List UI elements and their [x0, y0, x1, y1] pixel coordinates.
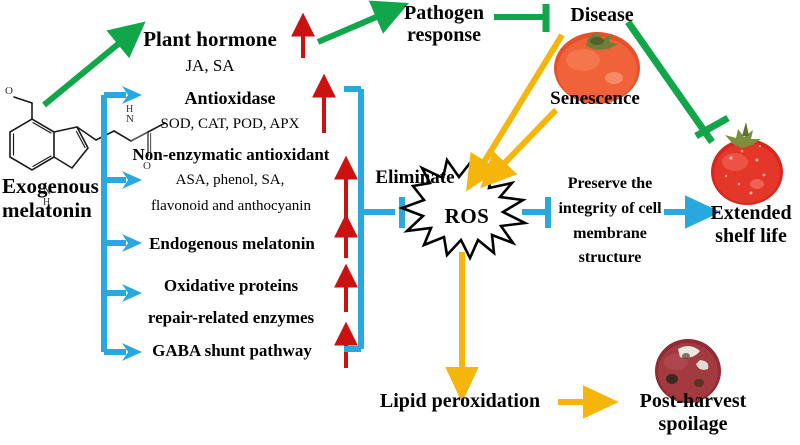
blue-collector-bracket-right [344, 89, 395, 349]
node-antioxidase-examples: SOD, CAT, POD, APX [140, 116, 320, 133]
diagram-canvas: O N H N H O [0, 0, 800, 445]
arrow-plant-hormone-to-pathogen-response [318, 12, 388, 42]
node-preserve-membrane-integrity: Preserve the integrity of cell membrane … [546, 172, 674, 271]
node-pathogen-response: Pathogen response [390, 2, 498, 46]
exogenous-line2: melatonin [2, 198, 92, 222]
node-oxidative-proteins-line2: repair-related enzymes [122, 308, 340, 327]
node-senescence: Senescence [532, 88, 658, 109]
extended-line2: shelf life [715, 225, 787, 247]
node-non-enzymatic-examples-line2: flavonoid and anthocyanin [128, 198, 334, 215]
tomato-fresh-image [711, 122, 783, 205]
node-non-enzymatic-antioxidant: Non-enzymatic antioxidant [118, 145, 344, 164]
node-non-enzymatic-examples-line1: ASA, phenol, SA, [140, 172, 320, 189]
node-antioxidase: Antioxidase [145, 88, 315, 108]
preserve-line2: integrity of cell [558, 200, 661, 217]
node-gaba-shunt-pathway: GABA shunt pathway [132, 341, 332, 360]
atom-label-H-amide: H [126, 104, 133, 115]
node-post-harvest-spoilage: Post-harvest spoilage [618, 390, 768, 436]
preserve-line1: Preserve the [568, 175, 653, 192]
atom-label-O: O [5, 85, 13, 97]
node-endogenous-melatonin: Endogenous melatonin [132, 234, 332, 253]
inhibition-disease-to-fresh-tomato [628, 22, 728, 142]
atom-label-N-amide: N [126, 113, 134, 125]
preserve-line3: membrane [573, 225, 647, 242]
pathogen-line2: response [407, 24, 481, 46]
pathogen-line1: Pathogen [404, 2, 484, 24]
extended-line1: Extended [710, 202, 791, 224]
node-ros: ROS [432, 205, 502, 229]
node-plant-hormone: Plant hormone [130, 28, 290, 52]
preserve-line4: structure [579, 249, 642, 266]
arrow-melatonin-to-plant-hormone [44, 36, 128, 105]
branch-arrow-antioxidase [122, 86, 142, 104]
diagram-vector-layer: O N H N H O [0, 0, 800, 445]
exogenous-line1: Exogenous [2, 174, 99, 198]
node-extended-shelf-life: Extended shelf life [702, 202, 800, 248]
branch-arrow-non-enzymatic [122, 171, 142, 189]
inhibition-ros-to-membrane [522, 197, 548, 228]
node-disease: Disease [548, 4, 656, 26]
node-lipid-peroxidation: Lipid peroxidation [370, 390, 550, 412]
postharvest-line2: spoilage [659, 413, 728, 435]
node-plant-hormone-examples: JA, SA [150, 56, 270, 75]
inhibition-disease-to-pathogen-response [494, 4, 546, 32]
node-exogenous-melatonin: Exogenous melatonin [2, 175, 114, 222]
postharvest-line1: Post-harvest [640, 390, 747, 412]
node-eliminate: Eliminate [360, 167, 470, 188]
node-oxidative-proteins-line1: Oxidative proteins [132, 276, 330, 295]
arrow-senescence-to-ros [496, 110, 556, 172]
